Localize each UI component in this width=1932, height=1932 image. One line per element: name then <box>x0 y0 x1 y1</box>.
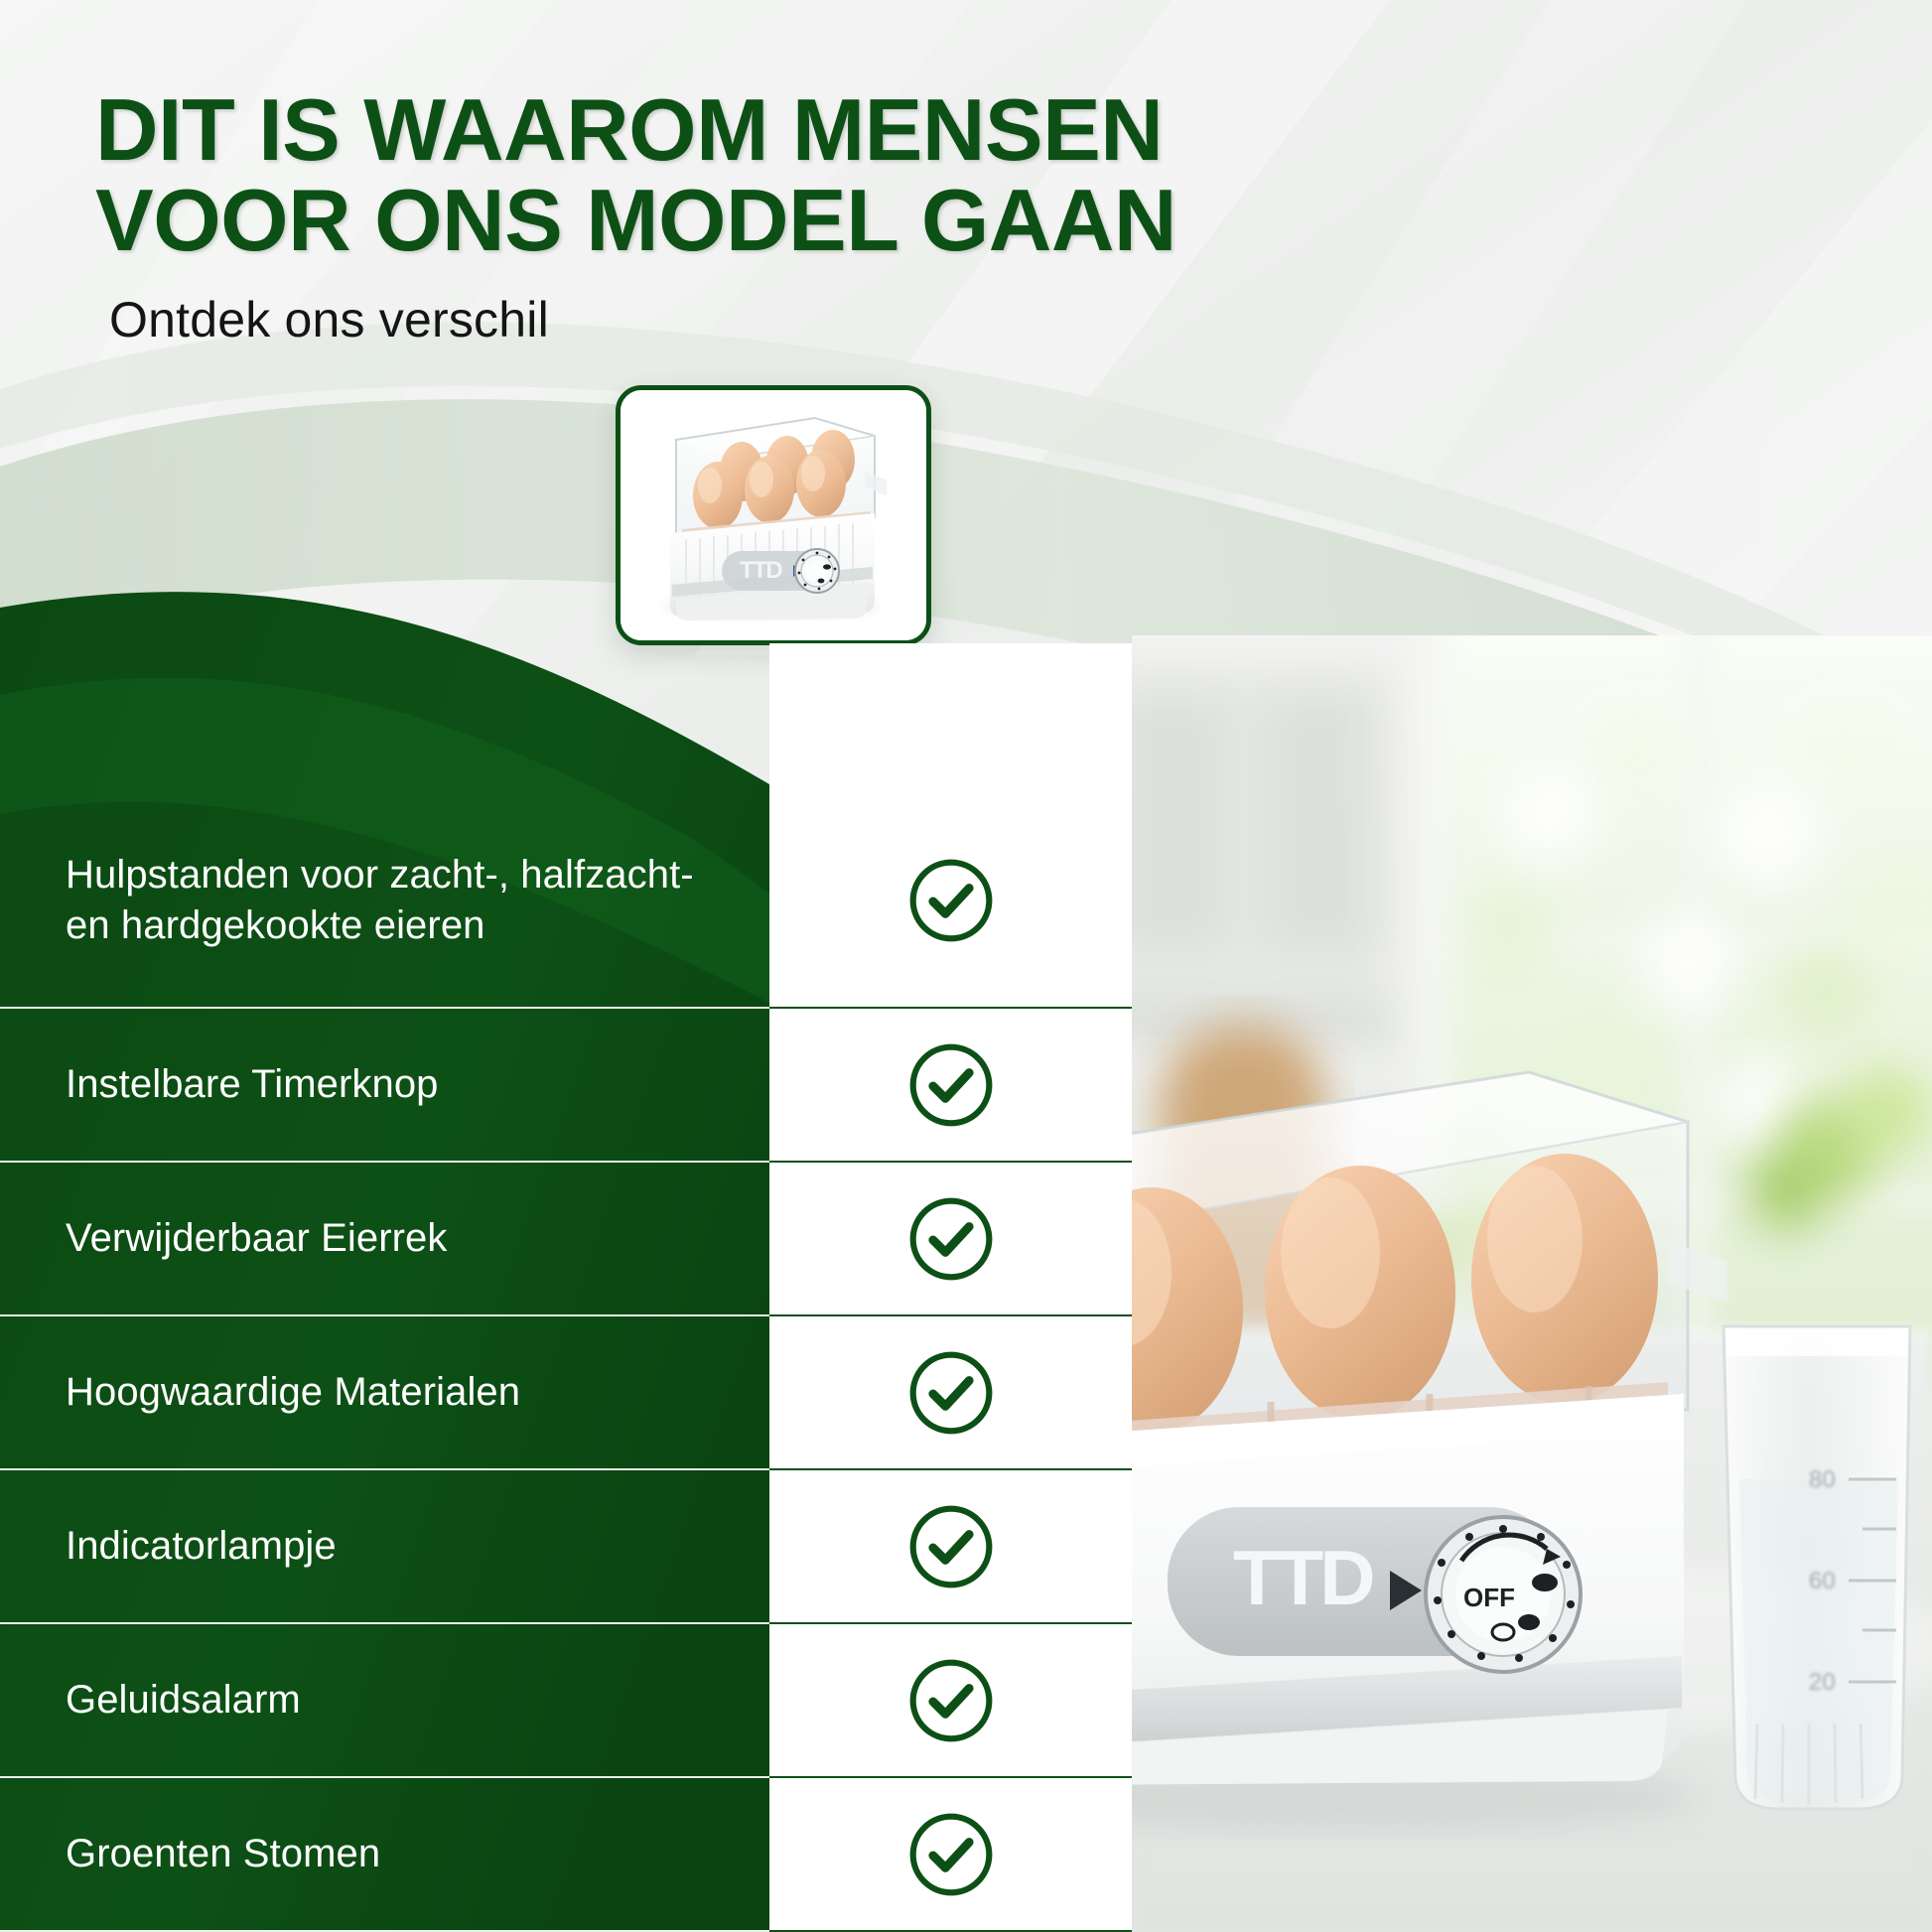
cup-mark-60: 60 <box>1809 1568 1836 1594</box>
feature-label: Hoogwaardige Materialen <box>66 1367 520 1418</box>
check-row <box>769 1624 1132 1778</box>
check-circle-icon <box>905 1347 997 1439</box>
feature-label: Groenten Stomen <box>66 1829 380 1879</box>
hero-measuring-cup: 80 60 20 <box>1724 1326 1910 1809</box>
check-row <box>769 1316 1132 1470</box>
feature-row: Geluidsalarm <box>0 1624 769 1778</box>
check-circle-icon <box>905 1809 997 1900</box>
cup-mark-20: 20 <box>1809 1669 1836 1696</box>
headline-line-1: DIT IS WAAROM MENSEN <box>95 80 1163 179</box>
feature-label: Instelbare Timerknop <box>66 1059 439 1110</box>
check-circle-icon <box>905 1039 997 1131</box>
feature-list: Hulpstanden voor zacht-, halfzacht- en h… <box>0 794 769 1932</box>
feature-label: Hulpstanden voor zacht-, halfzacht- en h… <box>66 850 712 951</box>
infographic-stage: TTD OFF <box>0 0 1932 1932</box>
hero-logo-text: TTD <box>1233 1534 1373 1621</box>
product-card-knob <box>795 549 839 593</box>
feature-row: Hoogwaardige Materialen <box>0 1316 769 1470</box>
feature-label: Verwijderbaar Eierrek <box>66 1213 447 1264</box>
headline-line-2: VOOR ONS MODEL GAAN <box>95 176 1386 266</box>
hero-knob-label: OFF <box>1463 1583 1515 1612</box>
feature-label: Indicatorlampje <box>66 1521 337 1572</box>
check-list <box>769 794 1132 1932</box>
check-row <box>769 1778 1132 1932</box>
feature-row: Instelbare Timerknop <box>0 1009 769 1163</box>
header: DIT IS WAAROM MENSEN VOOR ONS MODEL GAAN… <box>95 85 1386 348</box>
page-subtitle: Ontdek ons verschil <box>109 291 1386 348</box>
check-circle-icon <box>905 855 997 946</box>
check-row <box>769 1163 1132 1316</box>
product-card-logo-text: TTD <box>740 557 782 584</box>
check-circle-icon <box>905 1655 997 1746</box>
feature-row: Hulpstanden voor zacht-, halfzacht- en h… <box>0 794 769 1009</box>
feature-row: Indicatorlampje <box>0 1470 769 1624</box>
check-column-top-fill <box>769 643 1132 794</box>
check-circle-icon <box>905 1501 997 1592</box>
check-row <box>769 794 1132 1009</box>
check-row <box>769 1009 1132 1163</box>
check-column <box>769 794 1132 1932</box>
feature-label: Geluidsalarm <box>66 1675 301 1725</box>
page-title: DIT IS WAAROM MENSEN VOOR ONS MODEL GAAN <box>95 85 1386 265</box>
product-thumbnail-card[interactable]: TTD <box>616 385 931 645</box>
product-thumbnail-image: TTD <box>621 390 926 640</box>
cup-mark-80: 80 <box>1809 1466 1836 1493</box>
check-row <box>769 1470 1132 1624</box>
check-circle-icon <box>905 1193 997 1285</box>
feature-row: Groenten Stomen <box>0 1778 769 1932</box>
hero-timer-knob: OFF <box>1426 1517 1581 1672</box>
feature-row: Verwijderbaar Eierrek <box>0 1163 769 1316</box>
feature-panel: Hulpstanden voor zacht-, halfzacht- en h… <box>0 794 769 1932</box>
